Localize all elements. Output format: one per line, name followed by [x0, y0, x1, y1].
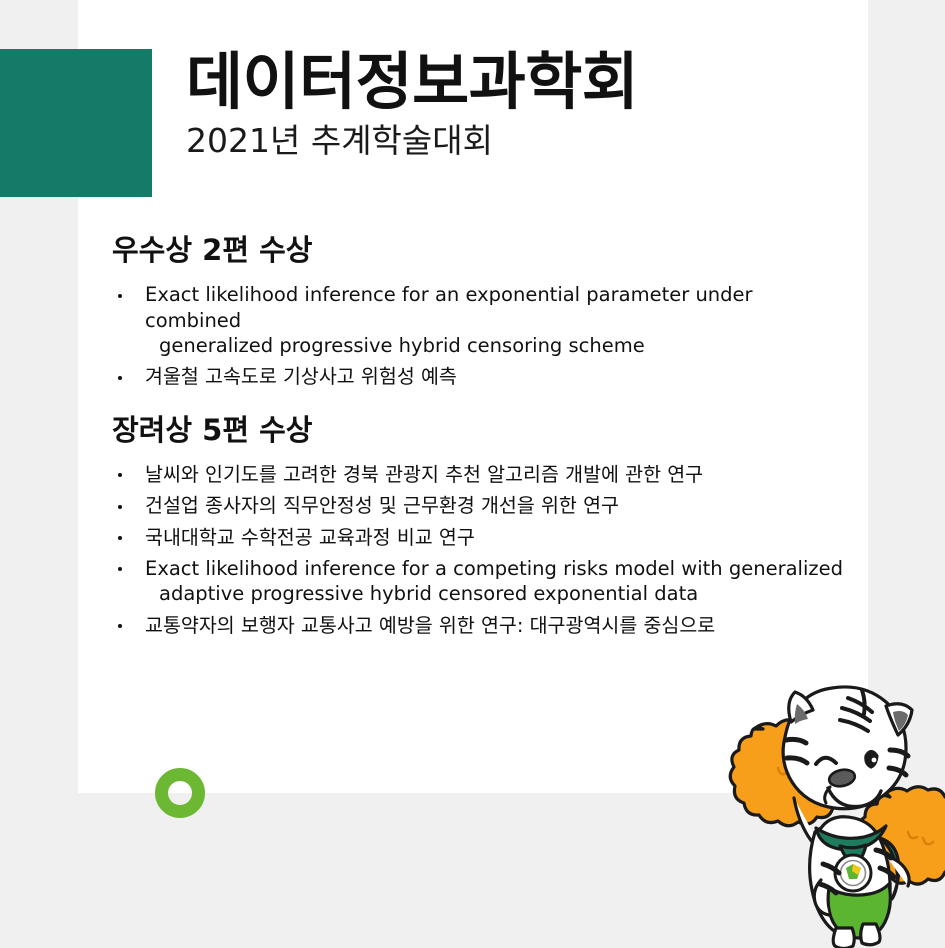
bullet-list: Exact likelihood inference for an expone… — [112, 282, 852, 389]
page-subtitle: 2021년 추계학술대회 — [186, 123, 846, 159]
list-item-text: Exact likelihood inference for a competi… — [145, 557, 843, 580]
list-item-text: 국내대학교 수학전공 교육과정 비교 연구 — [145, 526, 475, 549]
slide-header: 데이터정보과학회 2021년 추계학술대회 — [186, 50, 846, 160]
page-title: 데이터정보과학회 — [186, 50, 846, 113]
list-item: 겨울철 고속도로 기상사고 위험성 예측 — [112, 364, 852, 389]
list-item-text-cont: adaptive progressive hybrid censored exp… — [145, 581, 852, 606]
award-sections: 우수상 2편 수상 Exact likelihood inference for… — [112, 232, 852, 638]
list-item-text: 교통약자의 보행자 교통사고 예방을 위한 연구: 대구광역시를 중심으로 — [145, 614, 715, 637]
bullet-dot-icon — [118, 505, 122, 509]
teal-accent-block — [0, 49, 152, 197]
section-heading: 우수상 2편 수상 — [112, 232, 852, 268]
list-item-text: Exact likelihood inference for an expone… — [145, 283, 753, 331]
list-item: 국내대학교 수학전공 교육과정 비교 연구 — [112, 525, 852, 550]
bullet-dot-icon — [118, 536, 122, 540]
bullet-dot-icon — [118, 294, 122, 298]
cheerleading-tiger-mascot — [690, 680, 945, 948]
list-item: 건설업 종사자의 직무안정성 및 근무환경 개선을 위한 연구 — [112, 493, 852, 518]
section-heading: 장려상 5편 수상 — [112, 412, 852, 448]
list-item: Exact likelihood inference for a competi… — [112, 556, 852, 607]
list-item-text: 겨울철 고속도로 기상사고 위험성 예측 — [145, 365, 457, 388]
bullet-dot-icon — [118, 473, 122, 477]
bullet-dot-icon — [118, 567, 122, 571]
list-item: 날씨와 인기도를 고려한 경북 관광지 추천 알고리즘 개발에 관한 연구 — [112, 462, 852, 487]
list-item: Exact likelihood inference for an expone… — [112, 282, 852, 358]
bullet-dot-icon — [118, 376, 122, 380]
award-section: 우수상 2편 수상 Exact likelihood inference for… — [112, 232, 852, 390]
list-item-text: 날씨와 인기도를 고려한 경북 관광지 추천 알고리즘 개발에 관한 연구 — [145, 463, 703, 486]
list-item-text-cont: generalized progressive hybrid censoring… — [145, 333, 852, 358]
list-item-text: 건설업 종사자의 직무안정성 및 근무환경 개선을 위한 연구 — [145, 494, 619, 517]
green-ring-decoration — [155, 768, 205, 818]
bullet-dot-icon — [118, 624, 122, 628]
slide-canvas: 데이터정보과학회 2021년 추계학술대회 우수상 2편 수상 Exact li… — [0, 0, 945, 945]
bullet-list: 날씨와 인기도를 고려한 경북 관광지 추천 알고리즘 개발에 관한 연구 건설… — [112, 462, 852, 638]
list-item: 교통약자의 보행자 교통사고 예방을 위한 연구: 대구광역시를 중심으로 — [112, 613, 852, 638]
award-section: 장려상 5편 수상 날씨와 인기도를 고려한 경북 관광지 추천 알고리즘 개발… — [112, 412, 852, 638]
